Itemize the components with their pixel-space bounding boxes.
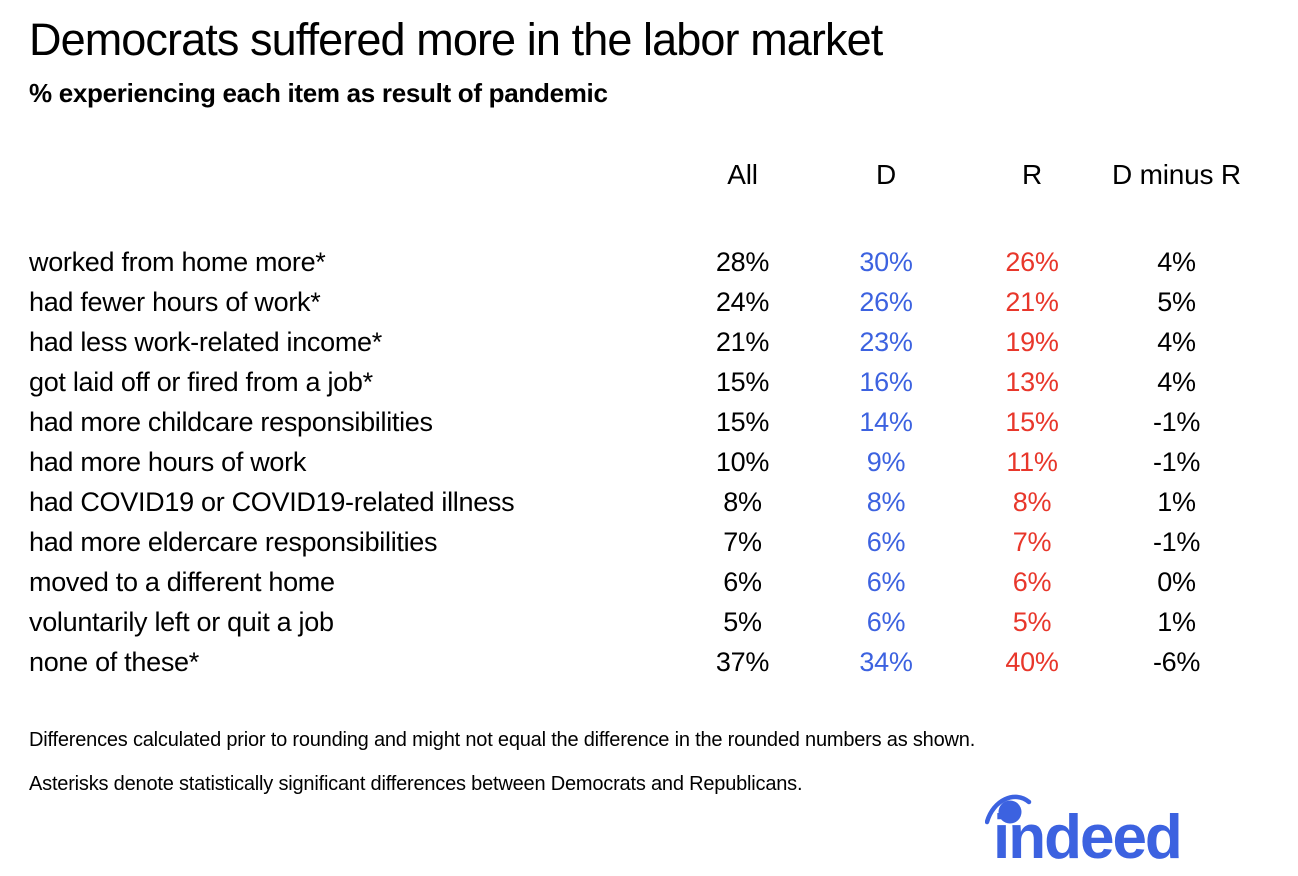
cell-value-difference: 4%	[1102, 362, 1251, 402]
table-row: had more childcare responsibilities15%14…	[29, 402, 1251, 442]
cell-value-all: 15%	[675, 362, 810, 402]
cell-value-difference: -1%	[1102, 442, 1251, 482]
cell-value-difference: 1%	[1102, 602, 1251, 642]
cell-value-democrat: 34%	[810, 642, 962, 682]
cell-value-all: 6%	[675, 562, 810, 602]
cell-value-difference: 5%	[1102, 282, 1251, 322]
cell-value-all: 24%	[675, 282, 810, 322]
cell-value-all: 21%	[675, 322, 810, 362]
cell-value-difference: -1%	[1102, 402, 1251, 442]
row-label: moved to a different home	[29, 562, 675, 602]
table-row: none of these*37%34%40%-6%	[29, 642, 1251, 682]
row-label: had more childcare responsibilities	[29, 402, 675, 442]
table-header-row: All D R D minus R	[29, 152, 1251, 198]
cell-value-difference: -6%	[1102, 642, 1251, 682]
row-label: worked from home more*	[29, 242, 675, 282]
cell-value-republican: 40%	[962, 642, 1102, 682]
cell-value-difference: 4%	[1102, 242, 1251, 282]
cell-value-all: 7%	[675, 522, 810, 562]
table-row: had less work-related income*21%23%19%4%	[29, 322, 1251, 362]
cell-value-republican: 13%	[962, 362, 1102, 402]
infographic-canvas: Democrats suffered more in the labor mar…	[0, 0, 1298, 876]
cell-value-republican: 19%	[962, 322, 1102, 362]
row-label: had more eldercare responsibilities	[29, 522, 675, 562]
row-label: voluntarily left or quit a job	[29, 602, 675, 642]
cell-value-difference: 4%	[1102, 322, 1251, 362]
cell-value-republican: 5%	[962, 602, 1102, 642]
cell-value-democrat: 23%	[810, 322, 962, 362]
cell-value-democrat: 26%	[810, 282, 962, 322]
cell-value-democrat: 14%	[810, 402, 962, 442]
row-label: had less work-related income*	[29, 322, 675, 362]
column-header-all: All	[675, 152, 810, 198]
column-header-republican: R	[962, 152, 1102, 198]
row-label: had more hours of work	[29, 442, 675, 482]
cell-value-all: 10%	[675, 442, 810, 482]
row-label: had fewer hours of work*	[29, 282, 675, 322]
footnote-differences: Differences calculated prior to rounding…	[29, 728, 1239, 752]
cell-value-democrat: 30%	[810, 242, 962, 282]
cell-value-difference: -1%	[1102, 522, 1251, 562]
cell-value-democrat: 6%	[810, 562, 962, 602]
spacer-cell	[810, 198, 962, 242]
cell-value-republican: 7%	[962, 522, 1102, 562]
cell-value-difference: 1%	[1102, 482, 1251, 522]
column-header-item	[29, 152, 675, 198]
cell-value-all: 8%	[675, 482, 810, 522]
spacer-cell	[675, 198, 810, 242]
row-label: had COVID19 or COVID19-related illness	[29, 482, 675, 522]
spacer-cell	[29, 198, 675, 242]
row-label: got laid off or fired from a job*	[29, 362, 675, 402]
cell-value-democrat: 6%	[810, 602, 962, 642]
results-table: All D R D minus R worked from home more*…	[29, 152, 1251, 682]
table-row: moved to a different home6%6%6%0%	[29, 562, 1251, 602]
column-header-democrat: D	[810, 152, 962, 198]
table-row: had COVID19 or COVID19-related illness8%…	[29, 482, 1251, 522]
page-title: Democrats suffered more in the labor mar…	[29, 14, 882, 66]
spacer-cell	[962, 198, 1102, 242]
table-row: worked from home more*28%30%26%4%	[29, 242, 1251, 282]
table-row: voluntarily left or quit a job5%6%5%1%	[29, 602, 1251, 642]
cell-value-all: 5%	[675, 602, 810, 642]
cell-value-republican: 6%	[962, 562, 1102, 602]
table-header: All D R D minus R	[29, 152, 1251, 198]
page-subtitle: % experiencing each item as result of pa…	[29, 78, 608, 108]
table-body: worked from home more*28%30%26%4%had few…	[29, 198, 1251, 682]
cell-value-democrat: 6%	[810, 522, 962, 562]
header-gap-spacer	[29, 198, 1251, 242]
indeed-logo: indeed	[985, 792, 1217, 864]
cell-value-democrat: 16%	[810, 362, 962, 402]
cell-value-difference: 0%	[1102, 562, 1251, 602]
cell-value-all: 15%	[675, 402, 810, 442]
indeed-logo-svg: indeed	[985, 792, 1217, 864]
cell-value-republican: 26%	[962, 242, 1102, 282]
cell-value-republican: 21%	[962, 282, 1102, 322]
cell-value-all: 37%	[675, 642, 810, 682]
table-row: had more eldercare responsibilities7%6%7…	[29, 522, 1251, 562]
cell-value-republican: 11%	[962, 442, 1102, 482]
cell-value-republican: 15%	[962, 402, 1102, 442]
indeed-wordmark: indeed	[993, 803, 1181, 864]
cell-value-democrat: 9%	[810, 442, 962, 482]
cell-value-democrat: 8%	[810, 482, 962, 522]
table-row: got laid off or fired from a job*15%16%1…	[29, 362, 1251, 402]
spacer-cell	[1102, 198, 1251, 242]
row-label: none of these*	[29, 642, 675, 682]
table-row: had more hours of work10%9%11%-1%	[29, 442, 1251, 482]
cell-value-all: 28%	[675, 242, 810, 282]
column-header-d-minus-r: D minus R	[1102, 152, 1251, 198]
table-row: had fewer hours of work*24%26%21%5%	[29, 282, 1251, 322]
cell-value-republican: 8%	[962, 482, 1102, 522]
